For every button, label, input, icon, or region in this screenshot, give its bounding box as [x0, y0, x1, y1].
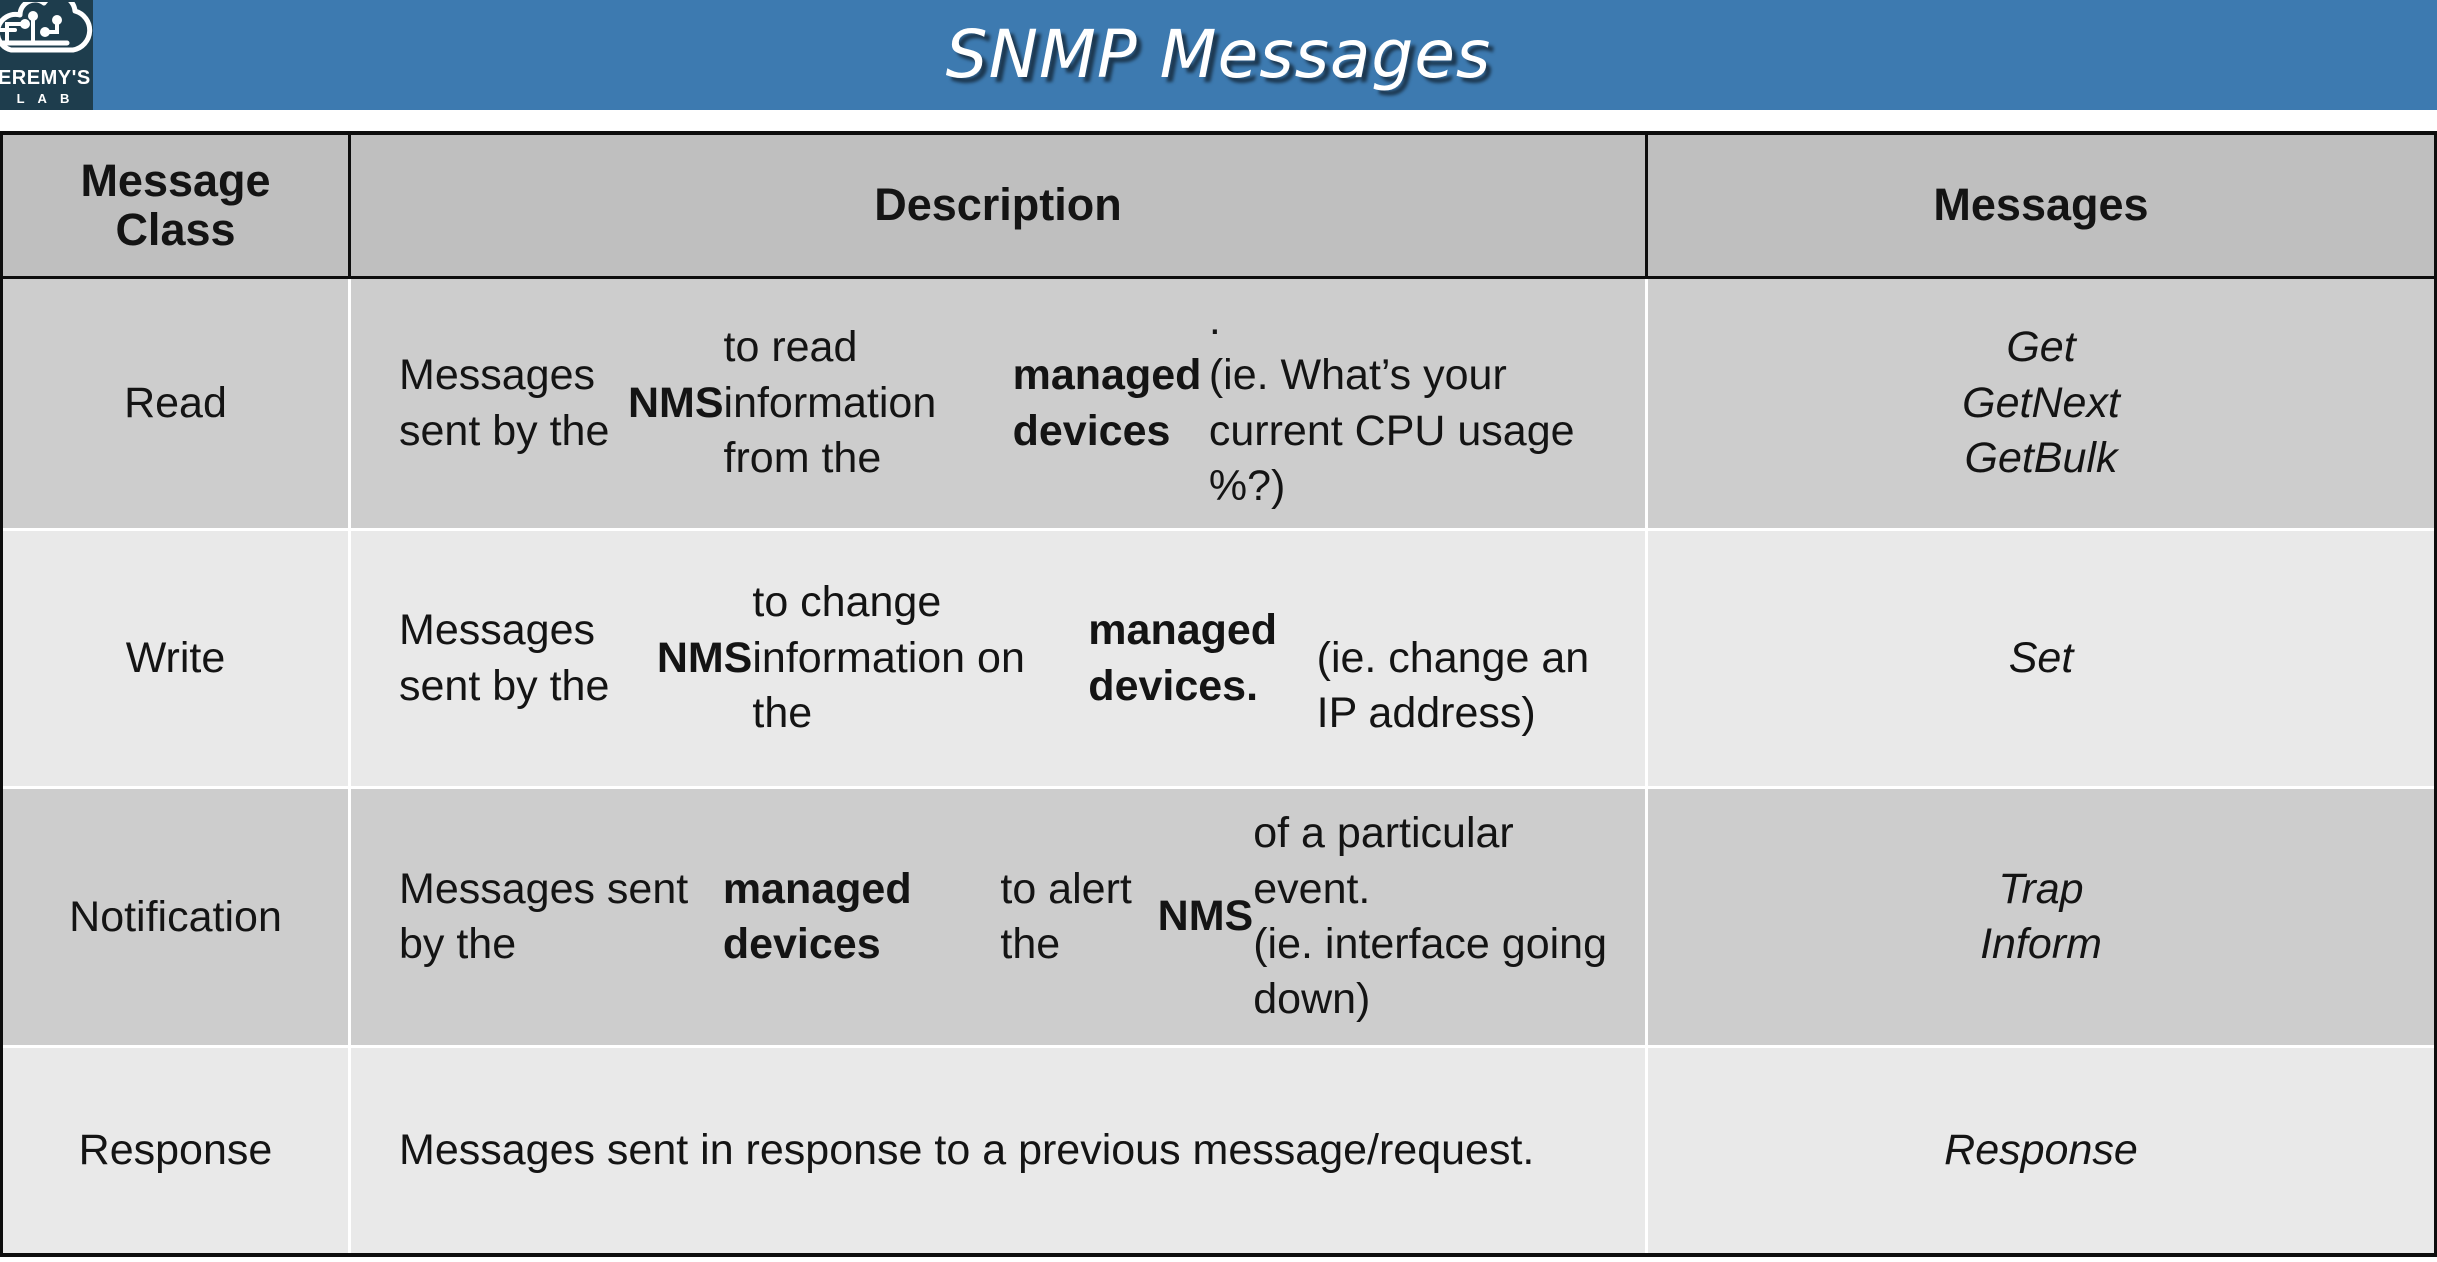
table-header-row: Message Class Description Messages [3, 135, 2434, 279]
column-header-messages: Messages [1648, 135, 2434, 276]
cell-message-class: Notification [3, 789, 351, 1045]
cell-messages: GetGetNextGetBulk [1648, 279, 2434, 528]
title-banner: JEREMY'S L A B SNMP Messages [0, 0, 2437, 110]
cell-messages: Set [1648, 531, 2434, 786]
table-row: Write Messages sent by the NMS to change… [3, 528, 2434, 786]
cell-description: Messages sent by the NMS to change infor… [351, 531, 1648, 786]
column-header-message-class-line2: Class [80, 206, 270, 255]
cell-message-class: Response [3, 1048, 351, 1253]
cell-description: Messages sent by the NMS to read informa… [351, 279, 1648, 528]
snmp-messages-table: Message Class Description Messages Read … [0, 131, 2437, 1257]
logo-brand-subtitle: L A B [17, 92, 75, 105]
cell-description: Messages sent in response to a previous … [351, 1048, 1648, 1253]
cell-message-class: Read [3, 279, 351, 528]
page-title: SNMP Messages [0, 0, 2437, 110]
cell-message-class: Write [3, 531, 351, 786]
cell-messages: Response [1648, 1048, 2434, 1253]
table-row: Notification Messages sent by the manage… [3, 786, 2434, 1045]
cell-messages: TrapInform [1648, 789, 2434, 1045]
column-header-description: Description [351, 135, 1648, 276]
column-header-message-class-line1: Message [80, 157, 270, 206]
table-row: Read Messages sent by the NMS to read in… [3, 279, 2434, 528]
logo-brand-name: JEREMY'S [0, 68, 91, 88]
cloud-circuit-icon [0, 2, 93, 67]
table-row: Response Messages sent in response to a … [3, 1045, 2434, 1253]
brand-logo: JEREMY'S L A B [0, 0, 93, 110]
column-header-message-class: Message Class [3, 135, 351, 276]
cell-description: Messages sent by the managed devices to … [351, 789, 1648, 1045]
